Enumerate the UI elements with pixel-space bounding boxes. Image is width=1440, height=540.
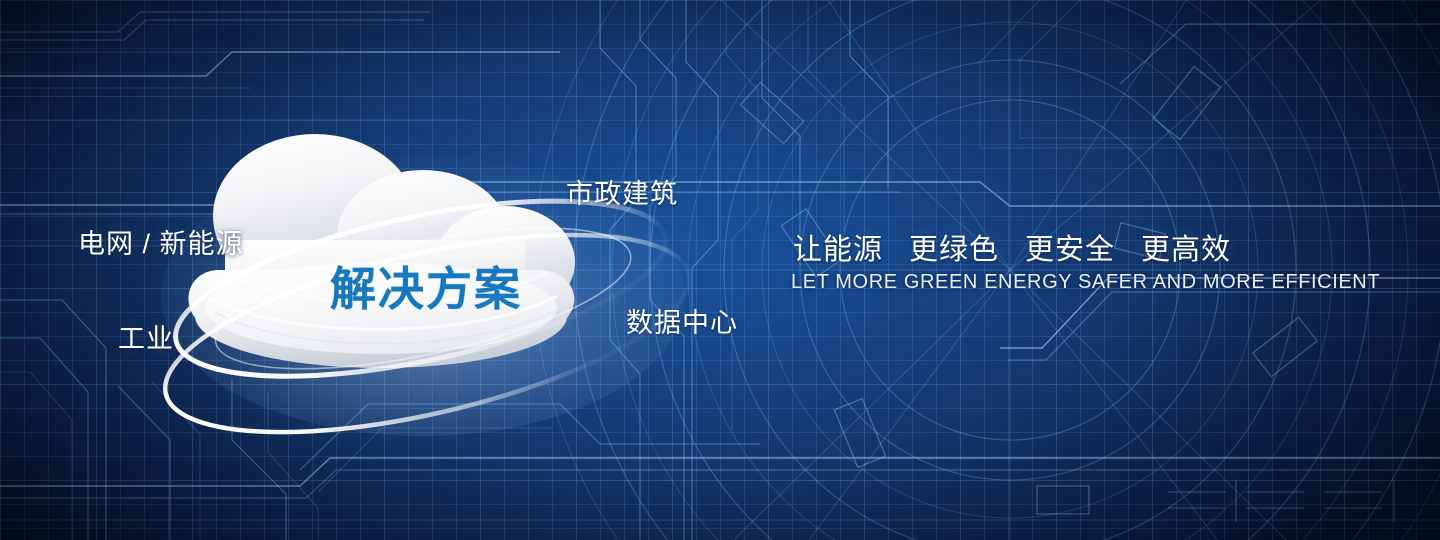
slogan-chinese: 让能源更绿色更安全更高效 (793, 226, 1231, 268)
cloud-title: 解决方案 (330, 253, 522, 319)
slogan-part-2: 更绿色 (909, 234, 999, 266)
cloud-label-data-center: 数据中心 (626, 301, 738, 340)
slogan-part-4: 更高效 (1141, 234, 1231, 266)
slogan-part-3: 更安全 (1025, 234, 1115, 266)
solution-banner: 电网 / 新能源 工业 市政建筑 数据中心 解决方案 让能源更绿色更安全更高效 … (0, 0, 1440, 540)
cloud-label-grid-new-energy: 电网 / 新能源 (78, 222, 244, 261)
cloud-label-municipal-building: 市政建筑 (566, 172, 678, 211)
slogan-part-1: 让能源 (793, 234, 883, 266)
slogan-english: LET MORE GREEN ENERGY SAFER AND MORE EFF… (791, 271, 1380, 294)
cloud-label-industry: 工业 (118, 317, 174, 356)
